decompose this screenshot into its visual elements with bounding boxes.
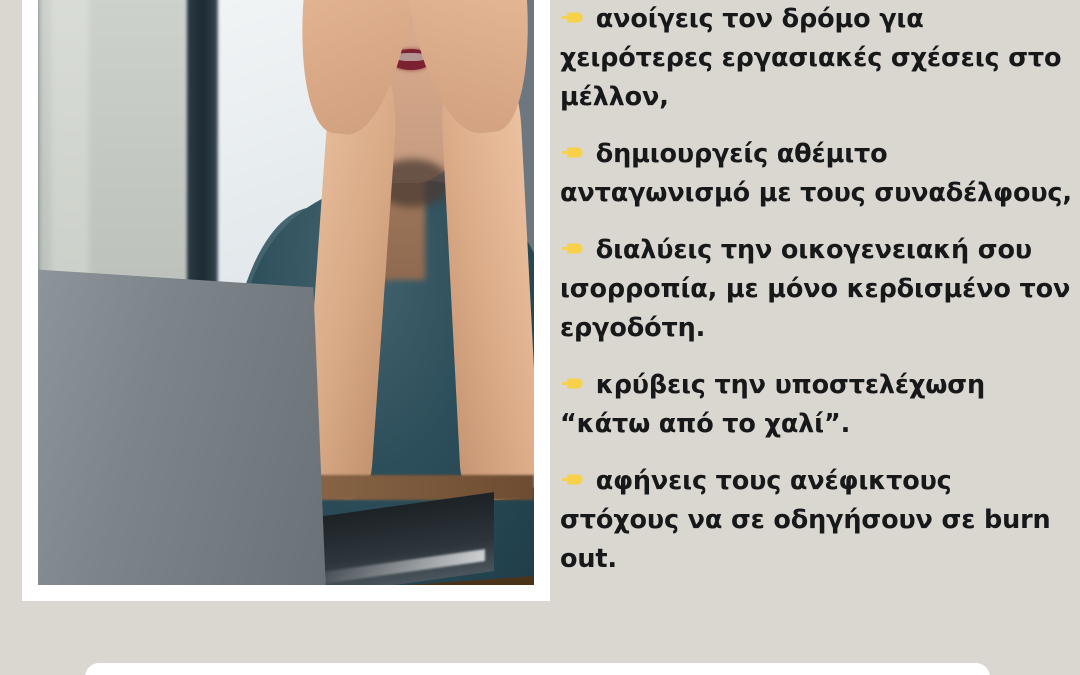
pointing-right-hand-icon — [560, 140, 585, 166]
list-item: ανοίγεις τον δρόμο για χειρότερες εργασι… — [560, 0, 1072, 117]
list-item-text: δημιουργείς αθέμιτο ανταγωνισμό με τους … — [560, 139, 1072, 208]
pointing-right-hand-icon — [560, 371, 585, 397]
pointing-right-hand-icon — [560, 5, 585, 31]
pointing-right-hand-icon — [560, 236, 585, 262]
list-item: κρύβεις την υποστελέχωση “κάτω από το χα… — [560, 366, 1072, 444]
list-item-text: διαλύεις την οικογενειακή σου ισορροπία,… — [560, 235, 1070, 343]
pointing-right-hand-icon — [560, 467, 585, 493]
photo-card — [22, 0, 550, 601]
list-item: αφήνεις τους ανέφικτους στόχους να σε οδ… — [560, 462, 1072, 579]
list-item: δημιουργείς αθέμιτο ανταγωνισμό με τους … — [560, 135, 1072, 213]
list-item-text: ανοίγεις τον δρόμο για χειρότερες εργασι… — [560, 4, 1061, 112]
bottom-card — [85, 663, 990, 675]
stressed-woman-photo — [38, 0, 534, 585]
photo-laptop-lid — [38, 268, 326, 585]
list-item: διαλύεις την οικογενειακή σου ισορροπία,… — [560, 231, 1072, 348]
bullet-list: ανοίγεις τον δρόμο για χειρότερες εργασι… — [560, 0, 1072, 602]
list-item-text: κρύβεις την υποστελέχωση “κάτω από το χα… — [560, 370, 985, 439]
list-item-text: αφήνεις τους ανέφικτους στόχους να σε οδ… — [560, 466, 1051, 574]
